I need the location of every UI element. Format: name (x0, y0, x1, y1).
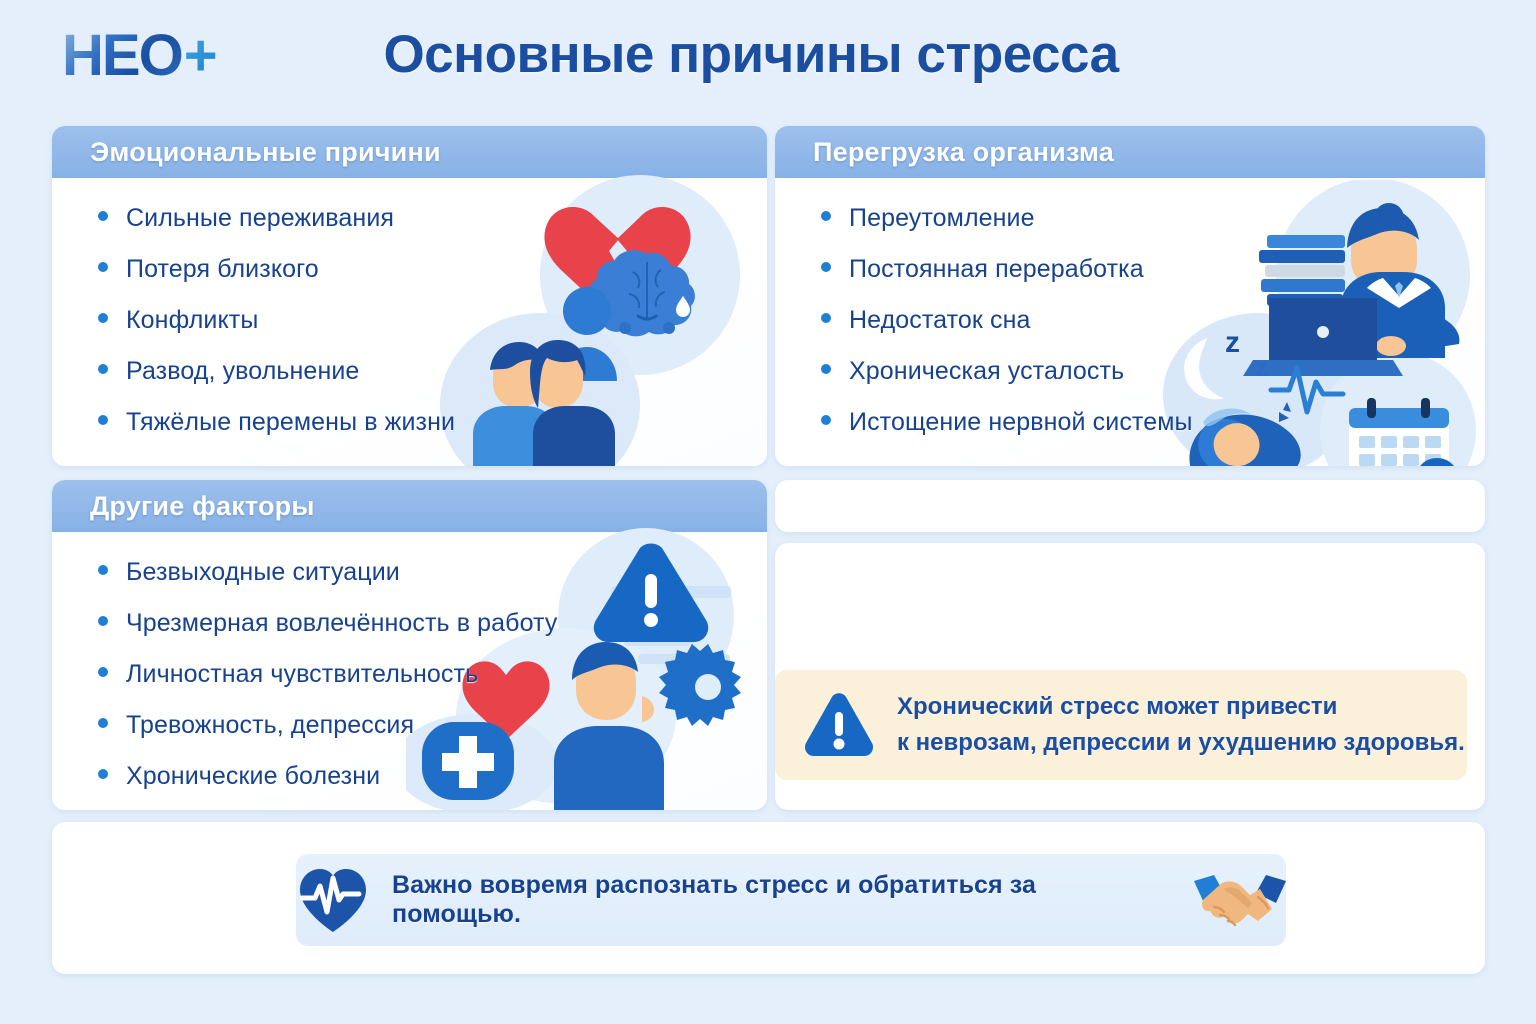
list-item-label: Конфликты (126, 306, 258, 335)
bullet-dot-icon (98, 565, 108, 575)
list-item: Конфликты (98, 306, 767, 335)
brand-logo-text: НЕО (62, 27, 182, 85)
bullet-dot-icon (98, 211, 108, 221)
list-item: Недостаток сна (821, 306, 1485, 335)
list-item-label: Хроническая усталость (849, 357, 1124, 386)
list-item-label: Безвыходные ситуации (126, 558, 400, 587)
card-title-emotional: Эмоциональные причини (90, 137, 441, 168)
list-item: Личностная чувствительность (98, 660, 767, 689)
warning-triangle-icon (803, 692, 875, 758)
list-item: Хроническая усталость (821, 357, 1485, 386)
list-item: Безвыходные ситуации (98, 558, 767, 587)
warning-callout: Хронический стресс может привести к невр… (775, 670, 1467, 780)
warning-text: Хронический стресс может привести к невр… (897, 689, 1465, 761)
list-item-label: Тревожность, депрессия (126, 711, 414, 740)
footer-text: Важно вовремя распознать стресс и обрати… (392, 871, 1172, 929)
list-item-label: Постоянная переработка (849, 255, 1144, 284)
card-title-other: Другие факторы (90, 491, 315, 522)
list-item-label: Истощение нервной системы (849, 408, 1193, 437)
list-item: Истощение нервной системы (821, 408, 1485, 437)
card-other-factors: Другие факторы (52, 480, 767, 810)
list-item: Чрезмерная вовлечённость в работу (98, 609, 767, 638)
card-header-other: Другие факторы (52, 480, 767, 532)
list-item-label: Чрезмерная вовлечённость в работу (126, 609, 557, 638)
bullet-dot-icon (98, 313, 108, 323)
list-item: Тревожность, депрессия (98, 711, 767, 740)
list-item: Переутомление (821, 204, 1485, 233)
list-item-label: Переутомление (849, 204, 1035, 233)
handshake-icon (1194, 867, 1286, 933)
list-item: Сильные переживания (98, 204, 767, 233)
list-item: Хронические болезни (98, 762, 767, 791)
card-header-overload: Перегрузка организма (775, 126, 1485, 178)
list-overload-causes: Переутомление Постоянная переработка Нед… (775, 178, 1485, 437)
list-item: Потеря близкого (98, 255, 767, 284)
card-body-other-content: Безвыходные ситуации Чрезмерная вовлечён… (52, 532, 767, 810)
bullet-dot-icon (821, 313, 831, 323)
bullet-dot-icon (98, 364, 108, 374)
warning-line-2: к неврозам, депрессии и ухудшению здоров… (897, 725, 1465, 761)
brand-logo-plus-icon: + (184, 27, 218, 85)
page-header: НЕО + Основные причины стресса (0, 0, 1536, 116)
bullet-dot-icon (821, 415, 831, 425)
bullet-dot-icon (98, 262, 108, 272)
card-spacer-strip (775, 480, 1485, 532)
list-item-label: Хронические болезни (126, 762, 380, 791)
list-item: Постоянная переработка (821, 255, 1485, 284)
bullet-dot-icon (98, 667, 108, 677)
bullet-dot-icon (98, 769, 108, 779)
bullet-dot-icon (821, 211, 831, 221)
card-header-emotional: Эмоциональные причини (52, 126, 767, 178)
card-title-overload: Перегрузка организма (813, 137, 1114, 168)
warning-line-1: Хронический стресс может привести (897, 689, 1465, 725)
bullet-dot-icon (821, 262, 831, 272)
bullet-dot-icon (98, 415, 108, 425)
brand-logo: НЕО + (62, 22, 257, 90)
bullet-dot-icon (98, 718, 108, 728)
heart-pulse-icon (296, 866, 370, 934)
list-item-label: Потеря близкого (126, 255, 319, 284)
footer-banner: Важно вовремя распознать стресс и обрати… (296, 854, 1286, 946)
card-footer: Важно вовремя распознать стресс и обрати… (52, 822, 1485, 974)
list-item-label: Развод, увольнение (126, 357, 359, 386)
list-other-factors: Безвыходные ситуации Чрезмерная вовлечён… (52, 532, 767, 791)
page-title: Основные причины стресса (356, 24, 1146, 85)
card-body-overload: Перегрузка организма (775, 126, 1485, 466)
list-item: Тяжёлые перемены в жизни (98, 408, 767, 437)
list-item: Развод, увольнение (98, 357, 767, 386)
list-item-label: Недостаток сна (849, 306, 1031, 335)
bullet-dot-icon (821, 364, 831, 374)
list-item-label: Тяжёлые перемены в жизни (126, 408, 455, 437)
list-item-label: Личностная чувствительность (126, 660, 478, 689)
list-item-label: Сильные переживания (126, 204, 394, 233)
list-emotional-causes: Сильные переживания Потеря близкого Конф… (52, 178, 767, 437)
bullet-dot-icon (98, 616, 108, 626)
card-body-overload-content: z z (775, 178, 1485, 466)
card-emotional-causes: Эмоциональные причини (52, 126, 767, 466)
card-body-emotional: Сильные переживания Потеря близкого Конф… (52, 178, 767, 466)
